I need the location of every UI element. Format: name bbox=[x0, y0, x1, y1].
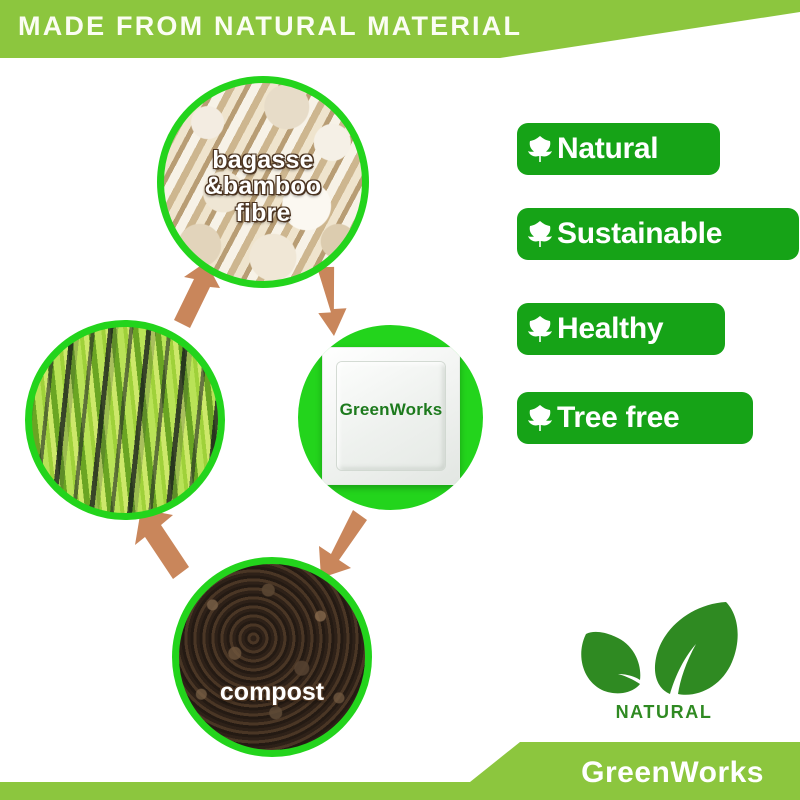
feature-badge-label: Sustainable bbox=[557, 219, 722, 249]
plate-brand-label: GreenWorks bbox=[322, 400, 460, 420]
feature-badge-label: Tree free bbox=[557, 403, 679, 433]
feature-badge-tree-free[interactable]: Tree free bbox=[517, 392, 753, 444]
feature-badge-label: Natural bbox=[557, 134, 658, 164]
infographic-poster: MADE FROM NATURAL MATERIAL bagasse &bamb… bbox=[0, 0, 800, 800]
leaf-icon bbox=[526, 219, 554, 249]
leaf-icon bbox=[526, 403, 554, 433]
cycle-node-compost[interactable]: compost bbox=[172, 557, 372, 757]
feature-badge-natural[interactable]: Natural bbox=[517, 123, 720, 175]
feature-badge-healthy[interactable]: Healthy bbox=[517, 303, 725, 355]
feature-badge-label: Healthy bbox=[557, 314, 663, 344]
product-plate: GreenWorks bbox=[322, 347, 460, 485]
cycle-node-sugarcane[interactable] bbox=[25, 320, 225, 520]
brand-logo: NATURAL bbox=[556, 596, 772, 736]
brand-logo-caption: NATURAL bbox=[556, 702, 772, 723]
cycle-node-bagasse[interactable]: bagasse &bamboo fibre bbox=[157, 76, 369, 288]
cycle-node-plate[interactable]: GreenWorks bbox=[298, 325, 483, 510]
page-title: MADE FROM NATURAL MATERIAL bbox=[18, 11, 522, 42]
footer-brand-label: GreenWorks bbox=[581, 756, 764, 790]
leaf-icon bbox=[526, 134, 554, 164]
feature-badge-sustainable[interactable]: Sustainable bbox=[517, 208, 799, 260]
cycle-node-bagasse-label: bagasse &bamboo fibre bbox=[164, 147, 362, 226]
cycle-node-compost-label: compost bbox=[179, 679, 365, 705]
two-leaves-icon bbox=[556, 596, 772, 706]
leaf-icon bbox=[526, 314, 554, 344]
